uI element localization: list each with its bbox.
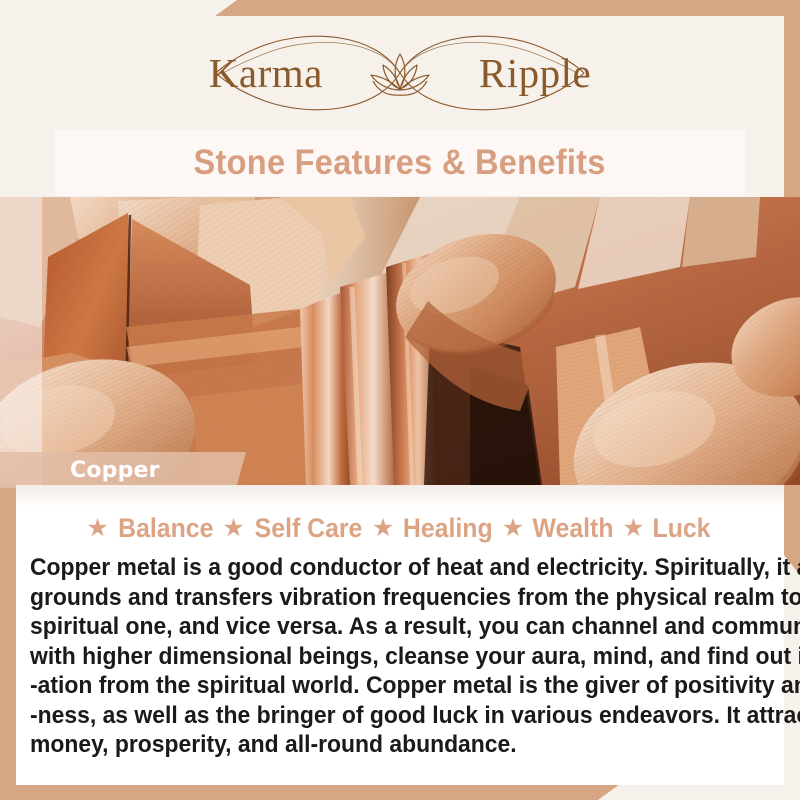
benefit-keyword-healing: Healing (403, 513, 493, 544)
lotus-icon (363, 48, 437, 100)
brand-name-right: Ripple (479, 53, 591, 94)
description-line: with higher dimensional beings, cleanse … (30, 642, 729, 672)
description-line: -ness, as well as the bringer of good lu… (30, 701, 729, 731)
photo-left-fade (0, 197, 42, 485)
page-title: Stone Features & Benefits (194, 143, 606, 183)
star-icon: ★ (222, 516, 244, 541)
description-text: Copper metal is a good conductor of heat… (30, 553, 778, 760)
benefit-keyword-luck: Luck (652, 513, 710, 544)
description-line: -ation from the spiritual world. Copper … (30, 671, 729, 701)
copper-photo-illustration (0, 197, 800, 485)
description-line: spiritual one, and vice versa. As a resu… (30, 612, 729, 642)
description-line: grounds and transfers vibration frequenc… (30, 583, 729, 613)
star-icon: ★ (622, 516, 644, 541)
brand-logo-inner: Karma Ripple (190, 25, 610, 121)
stone-name-text: Copper (70, 458, 160, 483)
headline-band: Stone Features & Benefits (55, 130, 745, 196)
benefit-keywords: ★Balance★Self Care★Healing★Wealth★Luck (16, 508, 784, 548)
infographic-page: Karma Ripple Stone Features & Benefits (0, 0, 800, 800)
panel-top-fade (16, 485, 784, 507)
copper-bars-photo (0, 197, 800, 485)
brand-name-left: Karma (209, 53, 323, 94)
stone-name-badge: Copper (0, 452, 246, 488)
star-icon: ★ (86, 516, 108, 541)
frame-bar-top (215, 0, 800, 16)
star-icon: ★ (372, 516, 394, 541)
description-line: money, prosperity, and all-round abundan… (30, 730, 729, 760)
description-line: Copper metal is a good conductor of heat… (30, 553, 729, 583)
star-icon: ★ (502, 516, 524, 541)
frame-bar-bottom (0, 784, 620, 800)
benefit-keyword-wealth: Wealth (533, 513, 614, 544)
brand-logo: Karma Ripple (0, 16, 800, 130)
benefit-keyword-self-care: Self Care (254, 513, 362, 544)
benefit-keyword-balance: Balance (118, 513, 213, 544)
